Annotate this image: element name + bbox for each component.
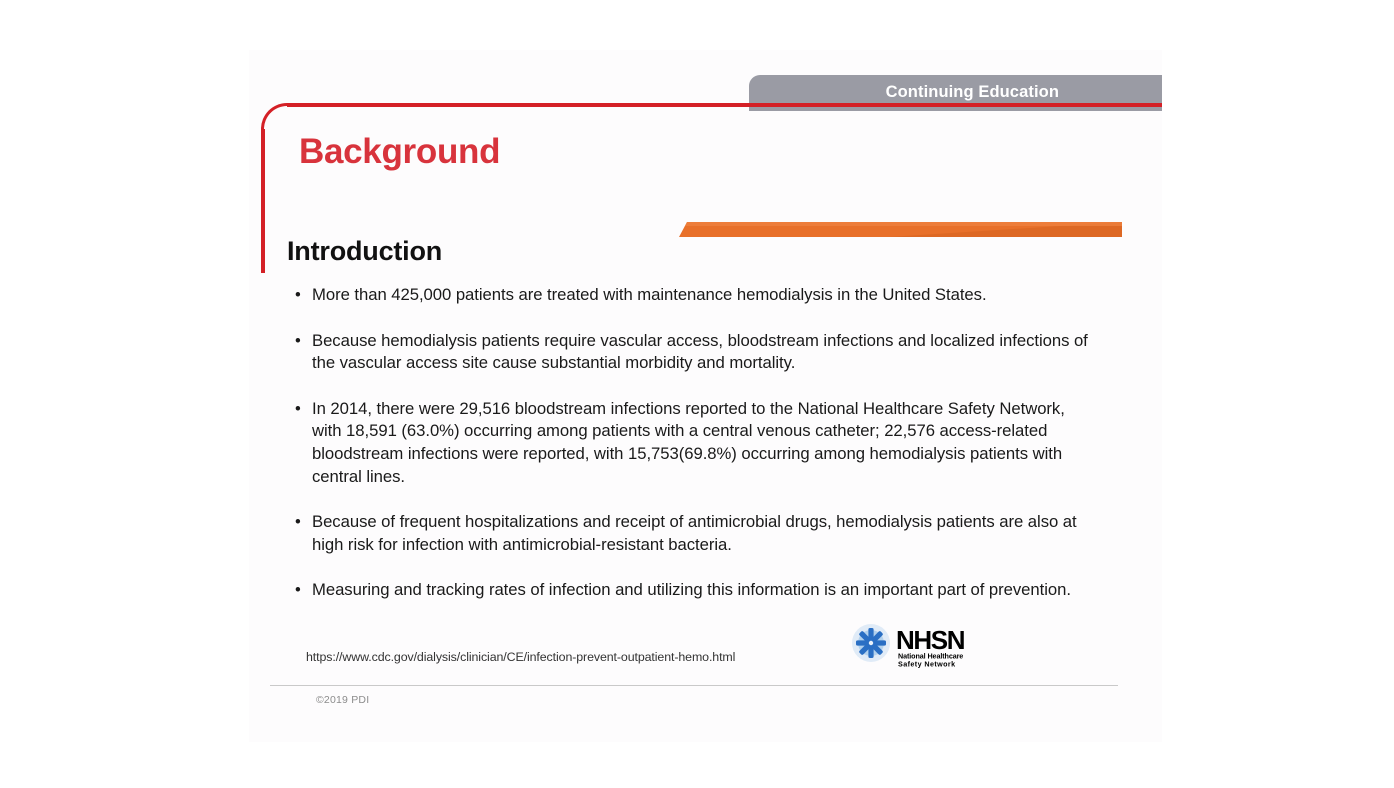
bullet-marker-icon: •: [295, 511, 312, 534]
list-item-text: In 2014, there were 29,516 bloodstream i…: [312, 398, 1095, 488]
nhsn-wordmark: NHSN: [896, 625, 965, 655]
list-item-text: Measuring and tracking rates of infectio…: [312, 579, 1095, 602]
red-frame-corner: [261, 103, 301, 143]
continuing-education-label: Continuing Education: [886, 83, 1059, 102]
red-frame-left-line: [261, 129, 265, 273]
footer-divider: [270, 685, 1118, 686]
list-item-text: More than 425,000 patients are treated w…: [312, 284, 1095, 307]
footer-copyright: ©2019 PDI: [316, 694, 369, 706]
bullet-marker-icon: •: [295, 330, 312, 353]
list-item: • Because of frequent hospitalizations a…: [295, 511, 1095, 556]
source-url-link[interactable]: https://www.cdc.gov/dialysis/clinician/C…: [306, 650, 735, 664]
list-item-text: Because hemodialysis patients require va…: [312, 330, 1095, 375]
section-heading: Introduction: [287, 236, 442, 267]
page-title: Background: [299, 132, 500, 172]
list-item: • In 2014, there were 29,516 bloodstream…: [295, 398, 1095, 488]
nhsn-logo: NHSN National Healthcare Safety Network: [846, 622, 976, 670]
continuing-education-tab: Continuing Education: [749, 75, 1162, 111]
list-item: • More than 425,000 patients are treated…: [295, 284, 1095, 307]
bullet-marker-icon: •: [295, 284, 312, 307]
introduction-bullet-list: • More than 425,000 patients are treated…: [295, 284, 1095, 625]
list-item: • Because hemodialysis patients require …: [295, 330, 1095, 375]
bullet-marker-icon: •: [295, 579, 312, 602]
bullet-marker-icon: •: [295, 398, 312, 421]
nhsn-tagline-line2: Safety Network: [898, 660, 956, 669]
list-item: • Measuring and tracking rates of infect…: [295, 579, 1095, 602]
slide-canvas: Continuing Education Background Introduc…: [249, 50, 1162, 742]
orange-accent-bar: [679, 220, 1122, 239]
nhsn-starburst-icon: [852, 624, 890, 662]
list-item-text: Because of frequent hospitalizations and…: [312, 511, 1095, 556]
